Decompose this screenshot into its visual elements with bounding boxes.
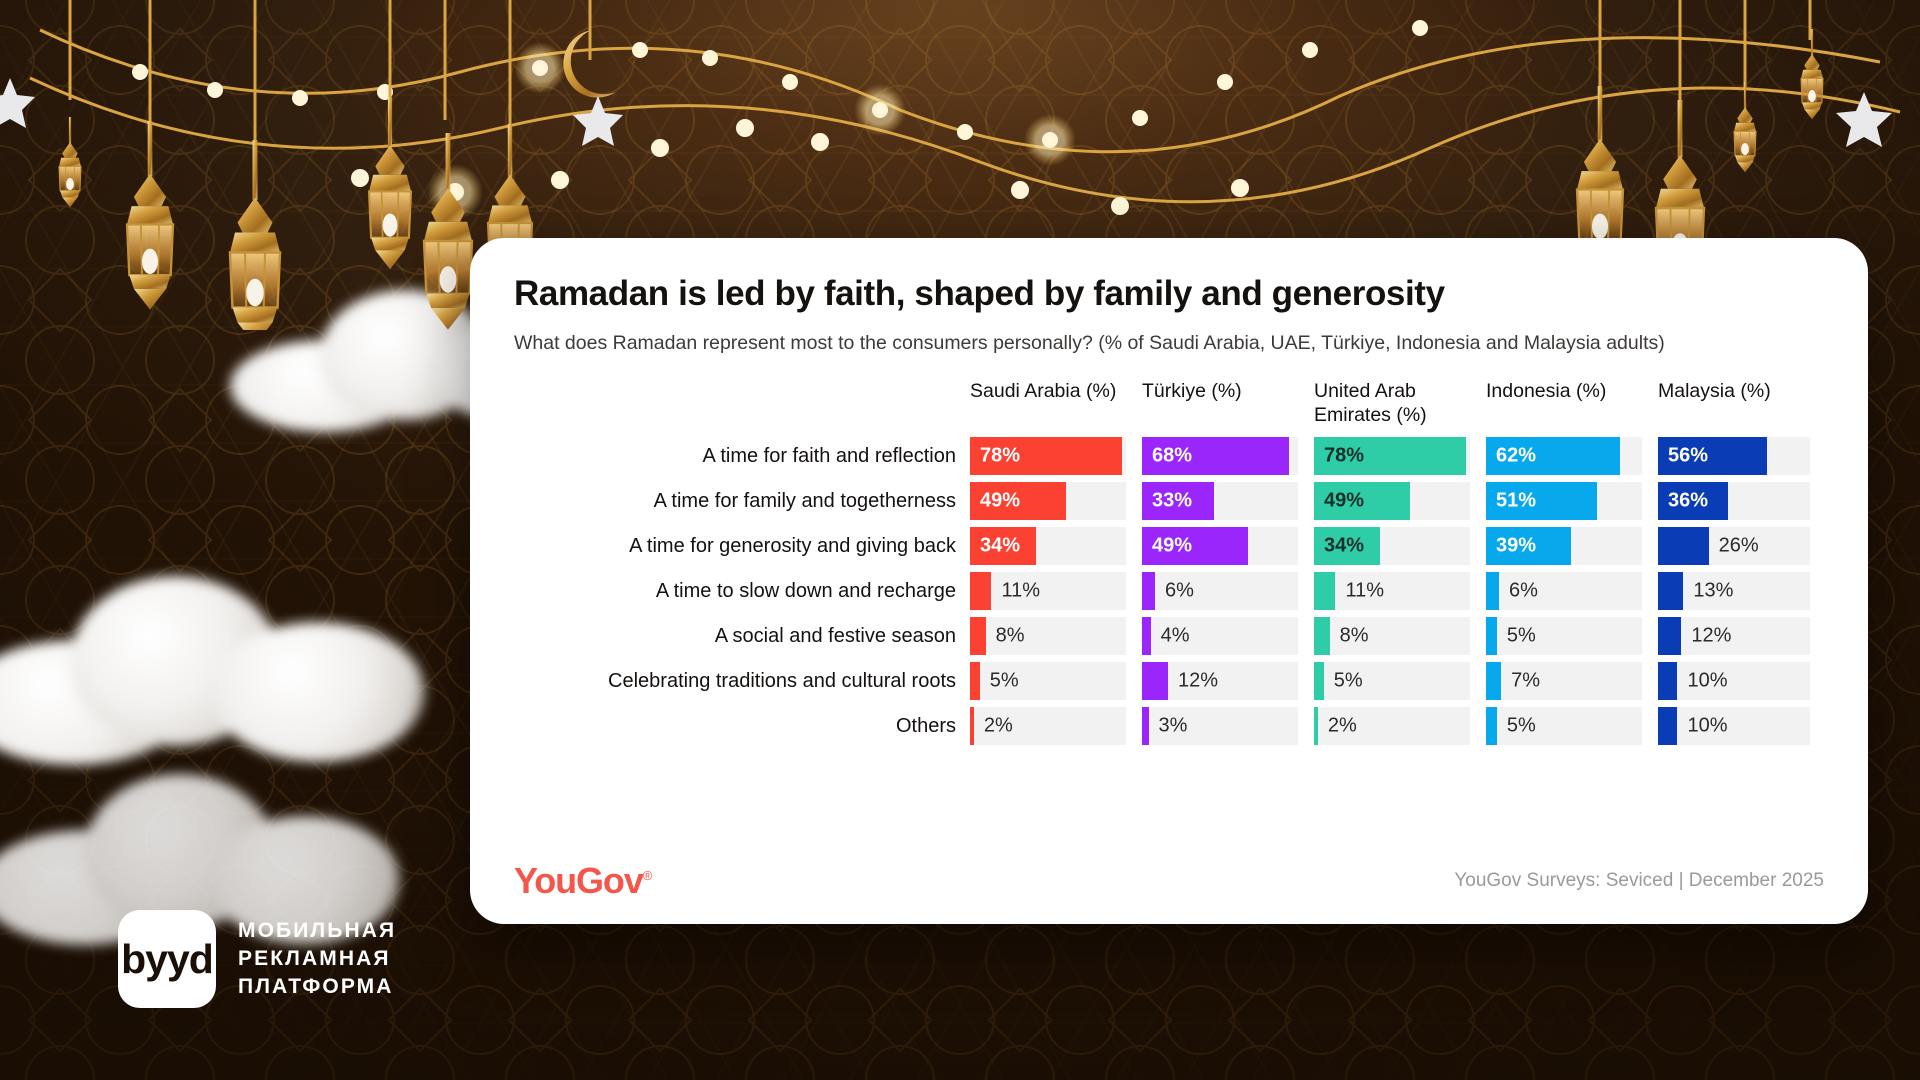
bar-track: 6% xyxy=(1486,572,1642,610)
bar-value-label: 34% xyxy=(980,535,1020,558)
chart-cell-turkiye: 68% xyxy=(1142,437,1314,475)
bar-track: 49% xyxy=(1142,527,1298,565)
bar-value-label: 51% xyxy=(1496,490,1536,513)
bar-track: 56% xyxy=(1658,437,1810,475)
bar-value-label: 39% xyxy=(1496,535,1536,558)
bar-track: 12% xyxy=(1142,662,1298,700)
bar-united-arab-emirates: 78% xyxy=(1314,437,1466,475)
bar-value-label: 5% xyxy=(1507,715,1536,738)
chart-cell-saudi-arabia: 2% xyxy=(970,707,1142,745)
bar-turkiye xyxy=(1142,662,1168,700)
chart-cell-malaysia: 10% xyxy=(1658,662,1826,700)
bar-track: 2% xyxy=(970,707,1126,745)
bar-track: 8% xyxy=(970,617,1126,655)
bar-value-label: 4% xyxy=(1161,625,1190,648)
bar-value-label: 3% xyxy=(1159,715,1188,738)
bar-track: 49% xyxy=(1314,482,1470,520)
bar-track: 8% xyxy=(1314,617,1470,655)
bar-saudi-arabia: 34% xyxy=(970,527,1036,565)
source-note: YouGov Surveys: Seviced | December 2025 xyxy=(1454,870,1824,892)
bar-track: 13% xyxy=(1658,572,1810,610)
column-header-saudi-arabia: Saudi Arabia (%) xyxy=(970,380,1142,404)
bar-track: 5% xyxy=(970,662,1126,700)
bar-saudi-arabia: 78% xyxy=(970,437,1122,475)
chart-row: Celebrating traditions and cultural root… xyxy=(514,662,1824,700)
bar-value-label: 12% xyxy=(1691,625,1731,648)
chart-row: Others2%3%2%5%10% xyxy=(514,707,1824,745)
chart-cell-saudi-arabia: 49% xyxy=(970,482,1142,520)
bar-malaysia xyxy=(1658,662,1677,700)
bar-track: 68% xyxy=(1142,437,1298,475)
bar-track: 5% xyxy=(1486,617,1642,655)
chart-cell-malaysia: 12% xyxy=(1658,617,1826,655)
chart-cell-saudi-arabia: 11% xyxy=(970,572,1142,610)
star-icon xyxy=(0,78,1892,147)
chart-row: A time for generosity and giving back34%… xyxy=(514,527,1824,565)
bar-turkiye xyxy=(1142,617,1151,655)
bar-value-label: 68% xyxy=(1152,445,1192,468)
bar-saudi-arabia xyxy=(970,662,980,700)
chart-cell-indonesia: 5% xyxy=(1486,707,1658,745)
bar-value-label: 6% xyxy=(1509,580,1538,603)
bar-value-label: 8% xyxy=(1340,625,1369,648)
row-label-a-social-and-festive-season: A social and festive season xyxy=(514,624,970,648)
bar-value-label: 8% xyxy=(996,625,1025,648)
row-label-a-time-for-faith-and-reflection: A time for faith and reflection xyxy=(514,444,970,468)
bar-value-label: 13% xyxy=(1693,580,1733,603)
bar-track: 7% xyxy=(1486,662,1642,700)
chart-cell-saudi-arabia: 8% xyxy=(970,617,1142,655)
chart-cell-united-arab-emirates: 11% xyxy=(1314,572,1486,610)
yougov-wordmark: YouGov xyxy=(514,860,643,901)
chart-rows: A time for faith and reflection78%68%78%… xyxy=(514,437,1824,745)
registered-mark: ® xyxy=(643,868,651,883)
chart-row: A time for family and togetherness49%33%… xyxy=(514,482,1824,520)
bar-value-label: 33% xyxy=(1152,490,1192,513)
yougov-logo: YouGov® xyxy=(514,860,651,902)
bar-value-label: 62% xyxy=(1496,445,1536,468)
card-footer: YouGov® YouGov Surveys: Seviced | Decemb… xyxy=(514,860,1824,902)
bar-track: 5% xyxy=(1314,662,1470,700)
bar-track: 11% xyxy=(1314,572,1470,610)
bar-track: 78% xyxy=(1314,437,1470,475)
bar-track: 34% xyxy=(970,527,1126,565)
bar-indonesia: 62% xyxy=(1486,437,1620,475)
column-header-united-arab-emirates: United Arab Emirates (%) xyxy=(1314,380,1486,428)
bar-malaysia xyxy=(1658,527,1709,565)
bar-track: 49% xyxy=(970,482,1126,520)
bar-value-label: 49% xyxy=(1324,490,1364,513)
bar-malaysia xyxy=(1658,707,1677,745)
column-header-malaysia: Malaysia (%) xyxy=(1658,380,1826,404)
bar-united-arab-emirates xyxy=(1314,707,1318,745)
bar-saudi-arabia xyxy=(970,707,974,745)
bar-track: 39% xyxy=(1486,527,1642,565)
column-header-indonesia: Indonesia (%) xyxy=(1486,380,1658,404)
chart-cell-malaysia: 56% xyxy=(1658,437,1826,475)
bar-value-label: 7% xyxy=(1511,670,1540,693)
page-title: Ramadan is led by faith, shaped by famil… xyxy=(514,274,1824,314)
byyd-tagline: МОБИЛЬНАЯ РЕКЛАМНАЯ ПЛАТФОРМА xyxy=(238,917,396,1000)
bar-track: 33% xyxy=(1142,482,1298,520)
bar-turkiye xyxy=(1142,707,1149,745)
row-label-others: Others xyxy=(514,714,970,738)
bar-turkiye: 68% xyxy=(1142,437,1289,475)
byyd-logo-mark: byyd xyxy=(118,910,216,1008)
chart-cell-turkiye: 12% xyxy=(1142,662,1314,700)
grouped-bar-chart: Saudi Arabia (%) Türkiye (%) United Arab… xyxy=(514,380,1824,746)
chart-cell-saudi-arabia: 34% xyxy=(970,527,1142,565)
chart-cell-united-arab-emirates: 49% xyxy=(1314,482,1486,520)
chart-cell-indonesia: 39% xyxy=(1486,527,1658,565)
chart-cell-turkiye: 4% xyxy=(1142,617,1314,655)
bar-united-arab-emirates xyxy=(1314,662,1324,700)
bar-turkiye: 49% xyxy=(1142,527,1248,565)
bar-track: 10% xyxy=(1658,707,1810,745)
bar-united-arab-emirates xyxy=(1314,617,1330,655)
bar-malaysia: 56% xyxy=(1658,437,1767,475)
row-label-celebrating-traditions-and-cultural-roots: Celebrating traditions and cultural root… xyxy=(514,669,970,693)
chart-cell-united-arab-emirates: 8% xyxy=(1314,617,1486,655)
bar-malaysia: 36% xyxy=(1658,482,1728,520)
chart-cell-turkiye: 33% xyxy=(1142,482,1314,520)
bar-track: 62% xyxy=(1486,437,1642,475)
bar-value-label: 2% xyxy=(984,715,1013,738)
bar-track: 78% xyxy=(970,437,1126,475)
bar-united-arab-emirates: 34% xyxy=(1314,527,1380,565)
bar-track: 3% xyxy=(1142,707,1298,745)
bar-track: 5% xyxy=(1486,707,1642,745)
bar-indonesia: 51% xyxy=(1486,482,1597,520)
chart-cell-united-arab-emirates: 2% xyxy=(1314,707,1486,745)
row-label-a-time-for-generosity-and-giving-back: A time for generosity and giving back xyxy=(514,534,970,558)
bar-indonesia xyxy=(1486,707,1497,745)
row-label-a-time-for-family-and-togetherness: A time for family and togetherness xyxy=(514,489,970,513)
chart-cell-united-arab-emirates: 5% xyxy=(1314,662,1486,700)
chart-cell-united-arab-emirates: 34% xyxy=(1314,527,1486,565)
chart-row: A time for faith and reflection78%68%78%… xyxy=(514,437,1824,475)
chart-cell-malaysia: 13% xyxy=(1658,572,1826,610)
byyd-tagline-line-2: РЕКЛАМНАЯ xyxy=(238,945,396,973)
bar-saudi-arabia xyxy=(970,617,986,655)
bar-turkiye: 33% xyxy=(1142,482,1214,520)
page-subtitle: What does Ramadan represent most to the … xyxy=(514,329,1784,357)
byyd-wordmark: byyd xyxy=(121,939,213,980)
chart-cell-indonesia: 6% xyxy=(1486,572,1658,610)
chart-row: A social and festive season8%4%8%5%12% xyxy=(514,617,1824,655)
bar-value-label: 11% xyxy=(1001,580,1040,603)
chart-cell-indonesia: 51% xyxy=(1486,482,1658,520)
chart-cell-malaysia: 36% xyxy=(1658,482,1826,520)
chart-column-headers: Saudi Arabia (%) Türkiye (%) United Arab… xyxy=(514,380,1824,428)
bar-malaysia xyxy=(1658,617,1681,655)
bar-united-arab-emirates: 49% xyxy=(1314,482,1410,520)
bar-indonesia: 39% xyxy=(1486,527,1571,565)
byyd-logo-block: byyd МОБИЛЬНАЯ РЕКЛАМНАЯ ПЛАТФОРМА xyxy=(118,910,396,1008)
chart-cell-turkiye: 49% xyxy=(1142,527,1314,565)
bar-malaysia xyxy=(1658,572,1683,610)
row-label-a-time-to-slow-down-and-recharge: A time to slow down and recharge xyxy=(514,579,970,603)
bar-saudi-arabia xyxy=(970,572,991,610)
chart-cell-malaysia: 10% xyxy=(1658,707,1826,745)
chart-cell-united-arab-emirates: 78% xyxy=(1314,437,1486,475)
bar-value-label: 78% xyxy=(980,445,1020,468)
byyd-tagline-line-3: ПЛАТФОРМА xyxy=(238,973,396,1001)
bar-track: 4% xyxy=(1142,617,1298,655)
bar-track: 6% xyxy=(1142,572,1298,610)
bar-value-label: 26% xyxy=(1719,535,1759,558)
bar-value-label: 5% xyxy=(1334,670,1363,693)
bar-track: 10% xyxy=(1658,662,1810,700)
chart-cell-saudi-arabia: 5% xyxy=(970,662,1142,700)
bar-value-label: 12% xyxy=(1178,670,1218,693)
chart-cell-saudi-arabia: 78% xyxy=(970,437,1142,475)
chart-cell-indonesia: 62% xyxy=(1486,437,1658,475)
chart-cell-turkiye: 3% xyxy=(1142,707,1314,745)
bar-track: 51% xyxy=(1486,482,1642,520)
byyd-tagline-line-1: МОБИЛЬНАЯ xyxy=(238,917,396,945)
bar-track: 34% xyxy=(1314,527,1470,565)
chart-cell-indonesia: 5% xyxy=(1486,617,1658,655)
bar-track: 36% xyxy=(1658,482,1810,520)
chart-cell-turkiye: 6% xyxy=(1142,572,1314,610)
bar-value-label: 10% xyxy=(1687,715,1727,738)
bar-turkiye xyxy=(1142,572,1155,610)
bar-indonesia xyxy=(1486,617,1497,655)
bar-saudi-arabia: 49% xyxy=(970,482,1066,520)
bar-value-label: 5% xyxy=(1507,625,1536,648)
bar-value-label: 10% xyxy=(1687,670,1727,693)
bar-track: 26% xyxy=(1658,527,1810,565)
bar-track: 2% xyxy=(1314,707,1470,745)
bar-value-label: 2% xyxy=(1328,715,1357,738)
chart-cell-indonesia: 7% xyxy=(1486,662,1658,700)
bar-value-label: 78% xyxy=(1324,445,1364,468)
bar-value-label: 34% xyxy=(1324,535,1364,558)
infographic-card: Ramadan is led by faith, shaped by famil… xyxy=(470,238,1868,924)
bar-indonesia xyxy=(1486,572,1499,610)
chart-row: A time to slow down and recharge11%6%11%… xyxy=(514,572,1824,610)
bar-track: 11% xyxy=(970,572,1126,610)
bar-value-label: 6% xyxy=(1165,580,1194,603)
chart-cell-malaysia: 26% xyxy=(1658,527,1826,565)
bar-indonesia xyxy=(1486,662,1501,700)
bar-value-label: 36% xyxy=(1668,490,1708,513)
bar-value-label: 49% xyxy=(1152,535,1192,558)
bar-value-label: 5% xyxy=(990,670,1019,693)
bar-value-label: 11% xyxy=(1345,580,1384,603)
bar-track: 12% xyxy=(1658,617,1810,655)
bar-value-label: 56% xyxy=(1668,445,1708,468)
bar-united-arab-emirates xyxy=(1314,572,1335,610)
bar-value-label: 49% xyxy=(980,490,1020,513)
column-header-turkiye: Türkiye (%) xyxy=(1142,380,1314,404)
